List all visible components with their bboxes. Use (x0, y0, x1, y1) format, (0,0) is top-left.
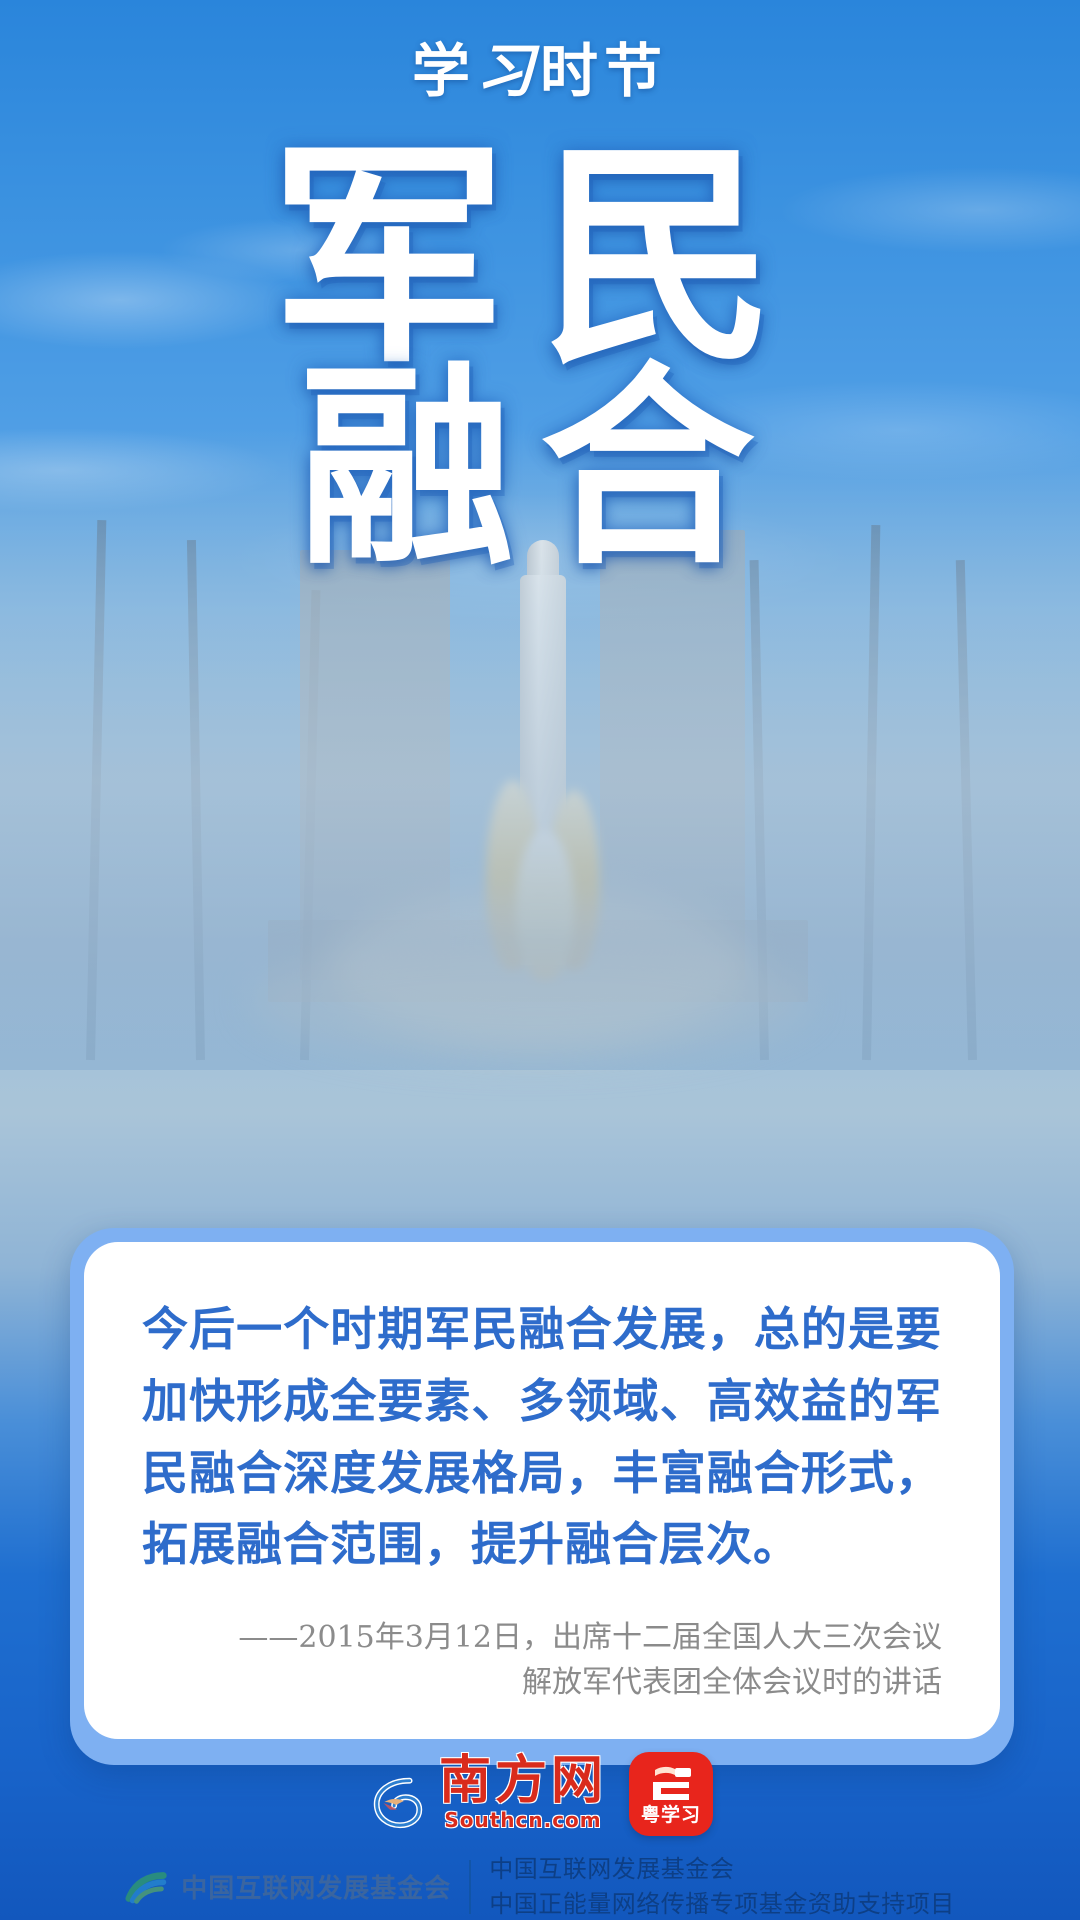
credit-text-block: 中国互联网发展基金会 中国正能量网络传播专项基金资助支持项目 (489, 1852, 955, 1920)
attribution-line-2: 解放军代表团全体会议时的讲话 (142, 1660, 942, 1705)
southcn-name-cn: 南方网 (439, 1755, 607, 1807)
southcn-swan-icon (367, 1771, 429, 1833)
lightning-mast (86, 520, 106, 1060)
brand-char-xi: 习 (476, 37, 540, 105)
southcn-logo[interactable]: 南方网 Southcn.com (367, 1755, 607, 1833)
yuexuexi-book-icon (645, 1764, 697, 1804)
headline-line-1: 军民 (0, 140, 1080, 375)
exhaust-smoke (250, 940, 810, 1060)
brand-char-shi: 时 (540, 37, 604, 105)
foundation-logo: 中国互联网发展基金会 (125, 1868, 451, 1905)
southcn-name-en: Southcn.com (444, 1807, 601, 1833)
poster-root: 学习时节 军民 融合 今后一个时期军民融合发展，总的是要加快形成全要素、多领域、… (0, 0, 1080, 1920)
yuexuexi-badge[interactable]: 粤学习 (629, 1752, 713, 1836)
brand-title: 学习时节 (0, 42, 1080, 100)
quote-attribution: ——2015年3月12日，出席十二届全国人大三次会议 解放军代表团全体会议时的讲… (142, 1615, 942, 1705)
lightning-mast (187, 540, 205, 1060)
foundation-wave-icon (125, 1869, 171, 1905)
headline-line-2: 融合 (0, 360, 1080, 575)
foundation-logo-text: 中国互联网发展基金会 (181, 1868, 451, 1905)
footer-logo-row: 南方网 Southcn.com 粤学习 (0, 1752, 1080, 1836)
southcn-wordmark: 南方网 Southcn.com (439, 1755, 607, 1833)
credit-line-1: 中国互联网发展基金会 (489, 1852, 955, 1887)
yuexuexi-label: 粤学习 (641, 1806, 701, 1825)
brand-char-xue: 学 (412, 37, 476, 105)
attribution-line-1: ——2015年3月12日，出席十二届全国人大三次会议 (142, 1615, 942, 1660)
quote-card: 今后一个时期军民融合发展，总的是要加快形成全要素、多领域、高效益的军民融合深度发… (84, 1242, 1000, 1739)
credit-line-2: 中国正能量网络传播专项基金资助支持项目 (489, 1887, 955, 1920)
credit-divider (469, 1860, 471, 1914)
lightning-mast (862, 525, 880, 1060)
quote-text: 今后一个时期军民融合发展，总的是要加快形成全要素、多领域、高效益的军民融合深度发… (142, 1294, 942, 1581)
lightning-mast (956, 560, 977, 1060)
credit-bar: 中国互联网发展基金会 中国互联网发展基金会 中国正能量网络传播专项基金资助支持项… (0, 1852, 1080, 1920)
brand-char-jie: 节 (604, 37, 668, 105)
quote-card-frame: 今后一个时期军民融合发展，总的是要加快形成全要素、多领域、高效益的军民融合深度发… (70, 1228, 1014, 1765)
